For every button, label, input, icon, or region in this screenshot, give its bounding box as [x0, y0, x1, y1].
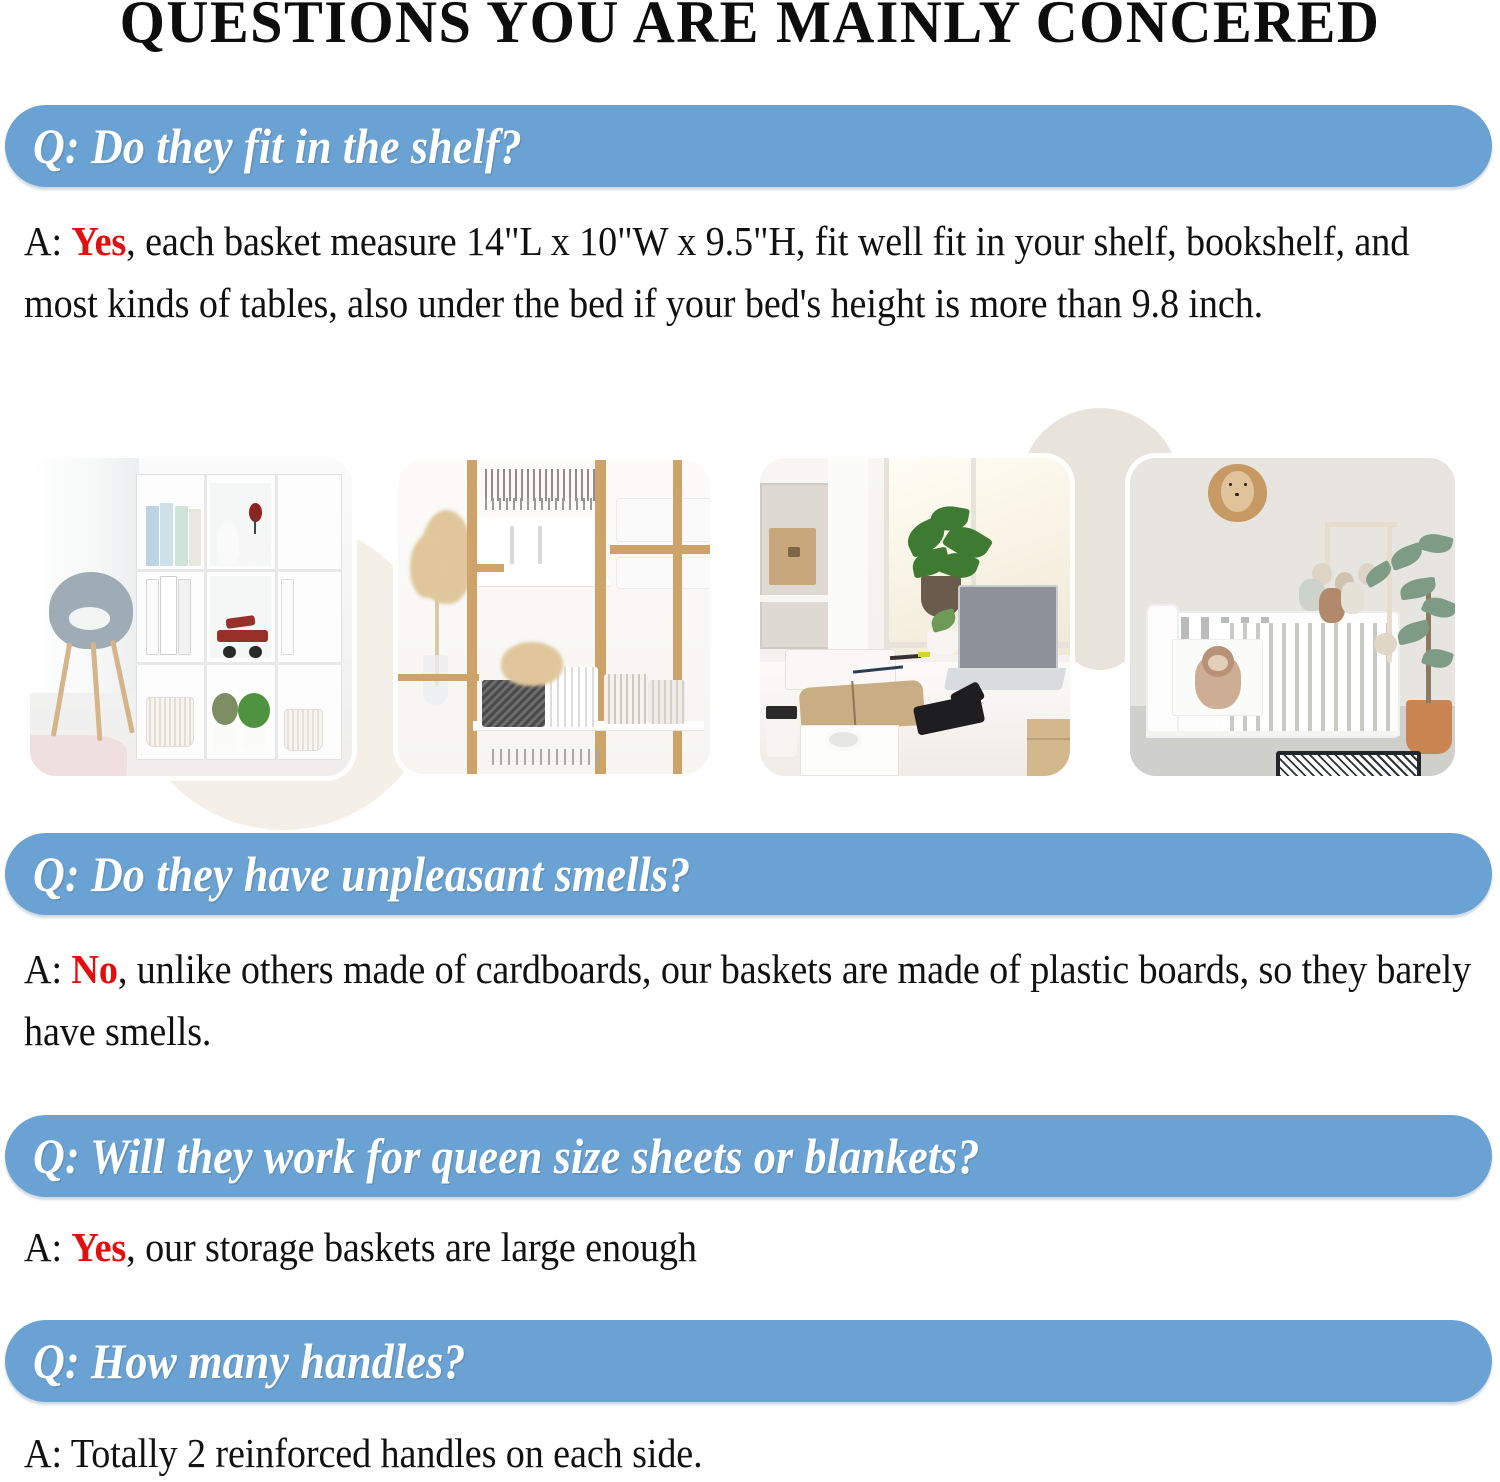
gallery-image-1 — [30, 458, 352, 776]
gallery-image-4 — [1130, 458, 1455, 776]
faq-answer-4: A: Totally 2 reinforced handles on each … — [24, 1422, 1475, 1482]
faq-answer-2-highlight: No — [71, 946, 117, 992]
faq-page: QUESTIONS YOU ARE MAINLY CONCERED Q: Do … — [0, 0, 1500, 1482]
faq-answer-3-highlight: Yes — [71, 1224, 126, 1270]
faq-answer-2-prefix: A: — [24, 946, 71, 992]
decorative-blob-stem — [1060, 470, 1140, 670]
gallery-image-2 — [398, 460, 710, 774]
faq-answer-1-prefix: A: — [24, 218, 71, 264]
faq-answer-3-prefix: A: — [24, 1224, 71, 1270]
faq-answer-1-highlight: Yes — [71, 218, 126, 264]
faq-answer-1: A: Yes, each basket measure 14"L x 10"W … — [24, 210, 1475, 335]
faq-question-4-text: Q: How many handles? — [33, 1332, 466, 1390]
faq-answer-3: A: Yes, our storage baskets are large en… — [24, 1216, 1475, 1278]
faq-answer-3-rest: , our storage baskets are large enough — [126, 1224, 697, 1270]
gallery-image-3 — [760, 458, 1070, 776]
page-title: QUESTIONS YOU ARE MAINLY CONCERED — [23, 0, 1478, 55]
faq-question-4[interactable]: Q: How many handles? — [5, 1320, 1492, 1402]
faq-question-3[interactable]: Q: Will they work for queen size sheets … — [5, 1115, 1492, 1197]
faq-question-2-text: Q: Do they have unpleasant smells? — [33, 845, 690, 903]
faq-answer-4-prefix: A: Totally 2 reinforced handles on each … — [24, 1430, 703, 1476]
faq-answer-1-rest: , each basket measure 14"L x 10"W x 9.5"… — [24, 218, 1409, 326]
faq-question-1-text: Q: Do they fit in the shelf? — [33, 117, 522, 175]
faq-question-3-text: Q: Will they work for queen size sheets … — [33, 1127, 980, 1185]
faq-question-2[interactable]: Q: Do they have unpleasant smells? — [5, 833, 1492, 915]
faq-answer-2: A: No, unlike others made of cardboards,… — [24, 938, 1475, 1063]
faq-question-1[interactable]: Q: Do they fit in the shelf? — [5, 105, 1492, 187]
faq-answer-2-rest: , unlike others made of cardboards, our … — [24, 946, 1471, 1054]
